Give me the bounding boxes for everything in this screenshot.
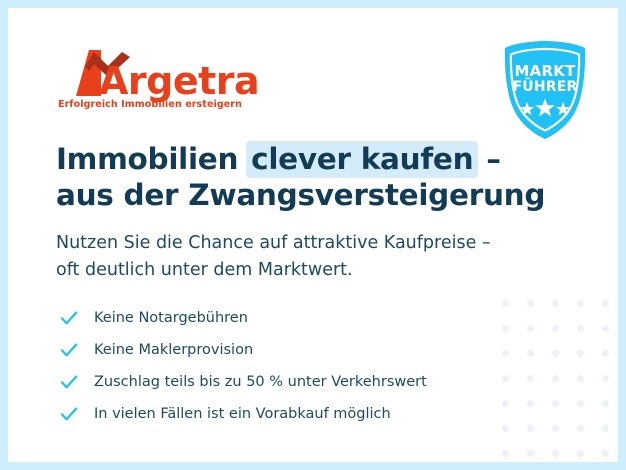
logo-tagline: Erfolgreich Immobilien ersteigern — [58, 99, 242, 110]
decoration-dot — [602, 400, 609, 407]
promo-banner: Argetra Erfolgreich Immobilien ersteiger… — [0, 0, 626, 470]
headline-pre: Immobilien — [56, 142, 248, 176]
benefit-item: Keine Notargebühren — [58, 303, 528, 333]
benefit-label: Keine Notargebühren — [94, 310, 248, 326]
decoration-dot — [527, 300, 534, 307]
decoration-dot — [602, 300, 609, 307]
decoration-dot — [502, 450, 509, 457]
benefits-list: Keine NotargebührenKeine Maklerprovision… — [58, 303, 528, 431]
decoration-dot — [602, 350, 609, 357]
page-subheadline: Nutzen Sie die Chance auf attraktive Kau… — [56, 230, 556, 284]
decoration-dot — [552, 400, 559, 407]
check-icon — [58, 403, 80, 425]
marktfuehrer-badge: MARKT FÜHRER — [497, 38, 593, 142]
check-icon — [58, 371, 80, 393]
benefit-item: In vielen Fällen ist ein Vorabkauf mögli… — [58, 399, 528, 429]
decoration-dot — [577, 300, 584, 307]
decoration-dot — [577, 425, 584, 432]
decoration-dot — [577, 350, 584, 357]
decoration-dot — [577, 325, 584, 332]
headline-line-1: Immobilien clever kaufen – — [56, 142, 536, 178]
benefit-label: Zuschlag teils bis zu 50 % unter Verkehr… — [94, 374, 427, 390]
decoration-dot — [552, 325, 559, 332]
check-icon — [58, 339, 80, 361]
decoration-dot — [552, 375, 559, 382]
decoration-dot — [527, 350, 534, 357]
decoration-dot — [527, 325, 534, 332]
banner-canvas: Argetra Erfolgreich Immobilien ersteiger… — [8, 8, 618, 462]
subheadline-line-1: Nutzen Sie die Chance auf attraktive Kau… — [56, 230, 556, 257]
decoration-dot — [552, 425, 559, 432]
decoration-dot — [577, 375, 584, 382]
decoration-dot — [577, 400, 584, 407]
decoration-dot — [602, 325, 609, 332]
decoration-dot — [527, 375, 534, 382]
decoration-dot — [552, 450, 559, 457]
headline-post: – — [476, 142, 500, 176]
decoration-dot — [527, 400, 534, 407]
subheadline-line-2: oft deutlich unter dem Marktwert. — [56, 257, 556, 284]
headline-line-2: aus der Zwangsversteigerung — [56, 178, 536, 214]
decoration-dot — [602, 375, 609, 382]
benefit-label: Keine Maklerprovision — [94, 342, 253, 358]
decoration-dot — [552, 300, 559, 307]
decoration-dot — [552, 350, 559, 357]
check-icon — [58, 307, 80, 329]
argetra-logo[interactable]: Argetra Erfolgreich Immobilien ersteiger… — [56, 46, 256, 118]
decoration-dot — [577, 450, 584, 457]
decoration-dot — [527, 425, 534, 432]
badge-stars — [497, 98, 593, 120]
badge-line-1: MARKT — [497, 62, 593, 80]
benefit-label: In vielen Fällen ist ein Vorabkauf mögli… — [94, 406, 391, 422]
decoration-dot — [602, 425, 609, 432]
decoration-dot — [527, 450, 534, 457]
logo-wordmark: Argetra — [99, 59, 259, 103]
badge-line-2: FÜHRER — [497, 79, 593, 95]
page-headline: Immobilien clever kaufen – aus der Zwang… — [56, 142, 536, 214]
benefit-item: Zuschlag teils bis zu 50 % unter Verkehr… — [58, 367, 528, 397]
dot-row — [502, 450, 618, 457]
headline-highlight: clever kaufen — [246, 141, 478, 178]
benefit-item: Keine Maklerprovision — [58, 335, 528, 365]
decoration-dot — [602, 450, 609, 457]
